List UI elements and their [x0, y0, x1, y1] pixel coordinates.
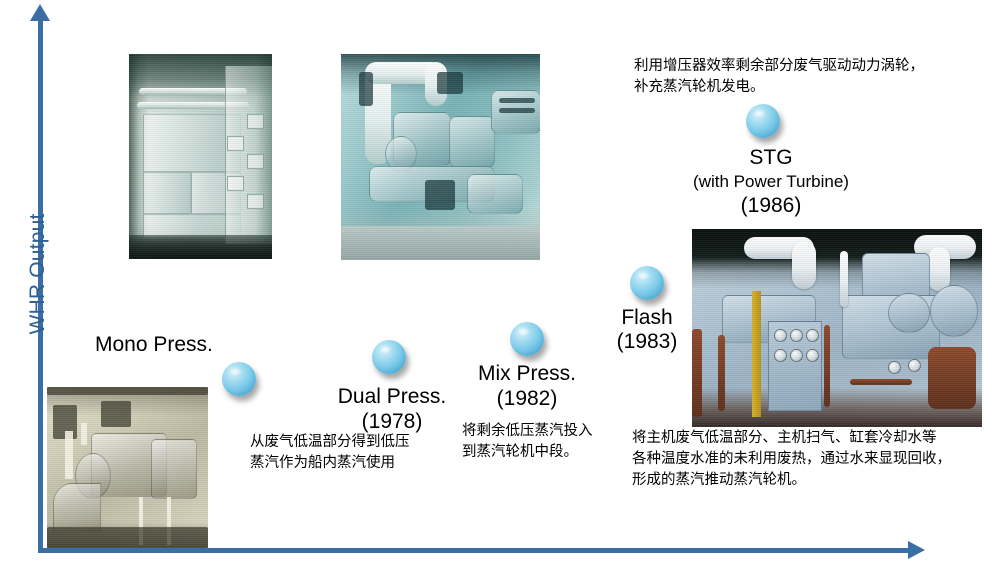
- stg-title: STG: [663, 146, 879, 171]
- x-axis-line: [38, 548, 913, 553]
- stg-qualifier: (with Power Turbine): [663, 172, 879, 192]
- photo-steam-turbine-generator: [341, 54, 540, 260]
- whr-evolution-slide: WHR Output: [0, 0, 984, 561]
- mono-press-title: Mono Press.: [95, 333, 265, 358]
- flash-year: (1983): [592, 330, 702, 355]
- mix-press-bullet-sphere[interactable]: [510, 322, 544, 356]
- photo-stg-power-turbine: [692, 229, 982, 427]
- flash-bullet-sphere[interactable]: [630, 266, 664, 300]
- dual-press-description: 从废气低温部分得到低压 蒸汽作为船内蒸汽使用: [250, 432, 460, 474]
- stg-bullet-sphere[interactable]: [746, 104, 780, 138]
- flash-description: 将主机废气低温部分、主机扫气、缸套冷却水等 各种温度水准的未利用废热，通过水来显…: [632, 428, 984, 491]
- mono-press-bullet-sphere[interactable]: [222, 362, 256, 396]
- mix-press-year: (1982): [455, 387, 599, 412]
- mix-press-title: Mix Press.: [455, 362, 599, 387]
- stg-year: (1986): [663, 194, 879, 219]
- mix-press-description: 将剩余低压蒸汽投入 到蒸汽轮机中段。: [462, 421, 632, 463]
- dual-press-title: Dual Press.: [320, 385, 464, 410]
- flash-title: Flash: [592, 306, 702, 331]
- x-axis-arrowhead: [908, 541, 925, 559]
- photo-whr-boiler: [129, 54, 272, 259]
- stg-description: 利用增压器效率剩余部分废气驱动动力涡轮， 补充蒸汽轮机发电。: [634, 56, 964, 98]
- photo-vintage-turbine: [47, 387, 208, 548]
- y-axis-label: WHR Output: [26, 194, 50, 354]
- dual-press-bullet-sphere[interactable]: [372, 340, 406, 374]
